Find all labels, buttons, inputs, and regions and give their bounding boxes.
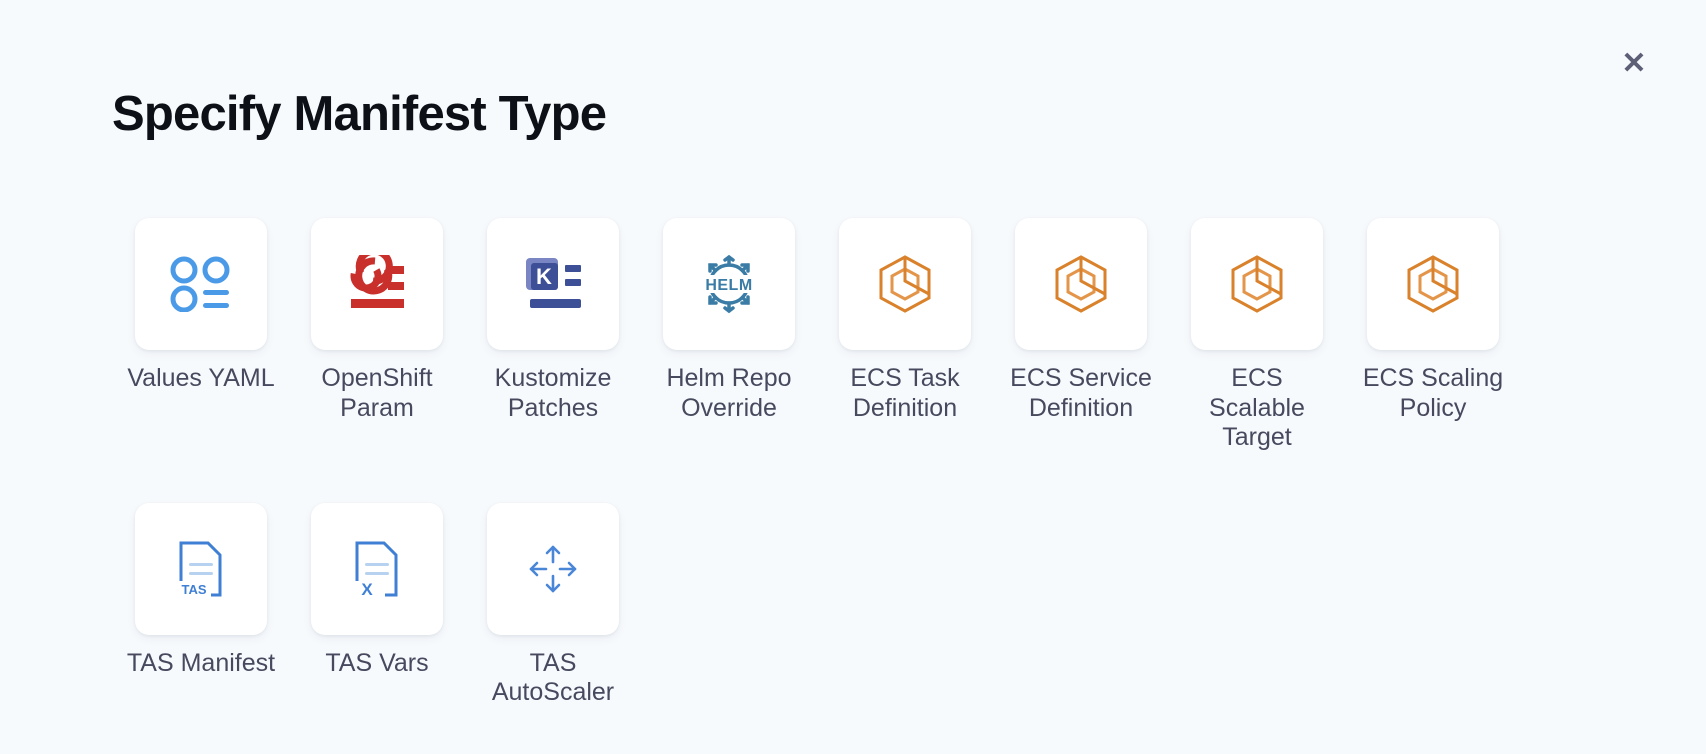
option-card[interactable] bbox=[839, 218, 971, 350]
option-card[interactable]: TAS bbox=[135, 503, 267, 635]
option-card[interactable]: X bbox=[311, 503, 443, 635]
option-label: Helm Repo Override bbox=[654, 364, 804, 423]
tas-autoscaler-icon bbox=[525, 541, 581, 597]
manifest-type-option-kustomize-patches[interactable]: K Kustomize Patches bbox=[465, 218, 641, 453]
option-label: OpenShift Param bbox=[302, 364, 452, 423]
helm-repo-override-icon: HELM bbox=[697, 254, 761, 314]
tas-vars-icon: X bbox=[351, 540, 403, 598]
option-label: ECS Scalable Target bbox=[1182, 364, 1332, 453]
values-yaml-icon bbox=[170, 256, 232, 312]
openshift-param-icon bbox=[345, 255, 409, 313]
option-label: TAS Manifest bbox=[126, 649, 276, 679]
manifest-type-option-helm-repo-override[interactable]: HELM Helm Repo Override bbox=[641, 218, 817, 453]
option-card[interactable]: HELM bbox=[663, 218, 795, 350]
manifest-type-option-ecs-service-definition[interactable]: ECS Service Definition bbox=[993, 218, 1169, 453]
tas-manifest-icon: TAS bbox=[175, 540, 227, 598]
ecs-service-definition-icon bbox=[1050, 253, 1112, 315]
manifest-type-option-values-yaml[interactable]: Values YAML bbox=[113, 218, 289, 453]
page-title: Specify Manifest Type bbox=[112, 88, 606, 142]
svg-text:HELM: HELM bbox=[705, 277, 752, 294]
manifest-type-option-ecs-scalable-target[interactable]: ECS Scalable Target bbox=[1169, 218, 1345, 453]
manifest-type-option-openshift-param[interactable]: OpenShift Param bbox=[289, 218, 465, 453]
kustomize-patches-icon: K bbox=[522, 256, 584, 312]
ecs-scaling-policy-icon bbox=[1402, 253, 1464, 315]
manifest-type-option-ecs-scaling-policy[interactable]: ECS Scaling Policy bbox=[1345, 218, 1521, 453]
option-card[interactable] bbox=[487, 503, 619, 635]
ecs-task-definition-icon bbox=[874, 253, 936, 315]
ecs-scalable-target-icon bbox=[1226, 253, 1288, 315]
option-card[interactable]: K bbox=[487, 218, 619, 350]
option-label: ECS Task Definition bbox=[830, 364, 980, 423]
manifest-type-option-tas-vars[interactable]: X TAS Vars bbox=[289, 503, 465, 708]
option-card[interactable] bbox=[1015, 218, 1147, 350]
svg-text:K: K bbox=[536, 264, 552, 289]
option-label: Values YAML bbox=[126, 364, 276, 394]
svg-text:X: X bbox=[361, 580, 373, 598]
option-label: ECS Scaling Policy bbox=[1358, 364, 1508, 423]
close-icon[interactable]: ✕ bbox=[1617, 47, 1651, 81]
manifest-type-option-ecs-task-definition[interactable]: ECS Task Definition bbox=[817, 218, 993, 453]
option-label: Kustomize Patches bbox=[478, 364, 628, 423]
option-label: TAS AutoScaler bbox=[478, 649, 628, 708]
option-card[interactable] bbox=[1191, 218, 1323, 350]
manifest-type-grid: Values YAML OpenShift Param bbox=[113, 218, 1593, 732]
option-card[interactable] bbox=[135, 218, 267, 350]
manifest-type-option-tas-manifest[interactable]: TAS TAS Manifest bbox=[113, 503, 289, 708]
manifest-type-option-tas-autoscaler[interactable]: TAS AutoScaler bbox=[465, 503, 641, 708]
option-label: ECS Service Definition bbox=[1006, 364, 1156, 423]
option-label: TAS Vars bbox=[302, 649, 452, 679]
option-card[interactable] bbox=[1367, 218, 1499, 350]
specify-manifest-type-dialog: ✕ Specify Manifest Type Values YAML bbox=[0, 0, 1706, 754]
svg-text:TAS: TAS bbox=[181, 582, 206, 597]
option-card[interactable] bbox=[311, 218, 443, 350]
